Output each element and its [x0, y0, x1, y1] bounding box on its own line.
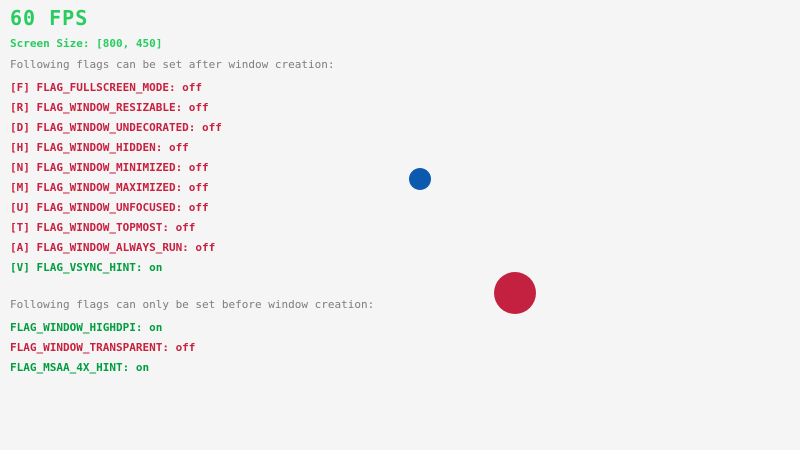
flag-row-flag-window-transparent[interactable]: FLAG_WINDOW_TRANSPARENT: off [10, 338, 195, 358]
flag-row-flag-window-hidden[interactable]: [H] FLAG_WINDOW_HIDDEN: off [10, 138, 222, 158]
flag-row-flag-window-highdpi[interactable]: FLAG_WINDOW_HIGHDPI: on [10, 318, 195, 338]
game-canvas[interactable]: 60 FPS Screen Size: [800, 450] Following… [0, 0, 800, 450]
flag-row-flag-msaa-4x-hint[interactable]: FLAG_MSAA_4X_HINT: on [10, 358, 195, 378]
flag-row-flag-window-undecorated[interactable]: [D] FLAG_WINDOW_UNDECORATED: off [10, 118, 222, 138]
flag-row-flag-window-topmost[interactable]: [T] FLAG_WINDOW_TOPMOST: off [10, 218, 222, 238]
red-ball [494, 272, 536, 314]
blue-ball [409, 168, 431, 190]
flag-row-flag-vsync-hint[interactable]: [V] FLAG_VSYNC_HINT: on [10, 258, 222, 278]
flag-row-flag-window-always-run[interactable]: [A] FLAG_WINDOW_ALWAYS_RUN: off [10, 238, 222, 258]
flag-row-flag-window-unfocused[interactable]: [U] FLAG_WINDOW_UNFOCUSED: off [10, 198, 222, 218]
flag-row-flag-fullscreen-mode[interactable]: [F] FLAG_FULLSCREEN_MODE: off [10, 78, 222, 98]
flag-list-after-creation: [F] FLAG_FULLSCREEN_MODE: off[R] FLAG_WI… [10, 78, 222, 278]
fps-counter: 60 FPS [10, 6, 88, 30]
flag-row-flag-window-minimized[interactable]: [N] FLAG_WINDOW_MINIMIZED: off [10, 158, 222, 178]
flag-row-flag-window-maximized[interactable]: [M] FLAG_WINDOW_MAXIMIZED: off [10, 178, 222, 198]
section-heading-after-creation: Following flags can be set after window … [10, 58, 335, 71]
section-heading-before-creation: Following flags can only be set before w… [10, 298, 374, 311]
screen-size-label: Screen Size: [800, 450] [10, 37, 162, 50]
flag-list-before-creation: FLAG_WINDOW_HIGHDPI: onFLAG_WINDOW_TRANS… [10, 318, 195, 378]
flag-row-flag-window-resizable[interactable]: [R] FLAG_WINDOW_RESIZABLE: off [10, 98, 222, 118]
